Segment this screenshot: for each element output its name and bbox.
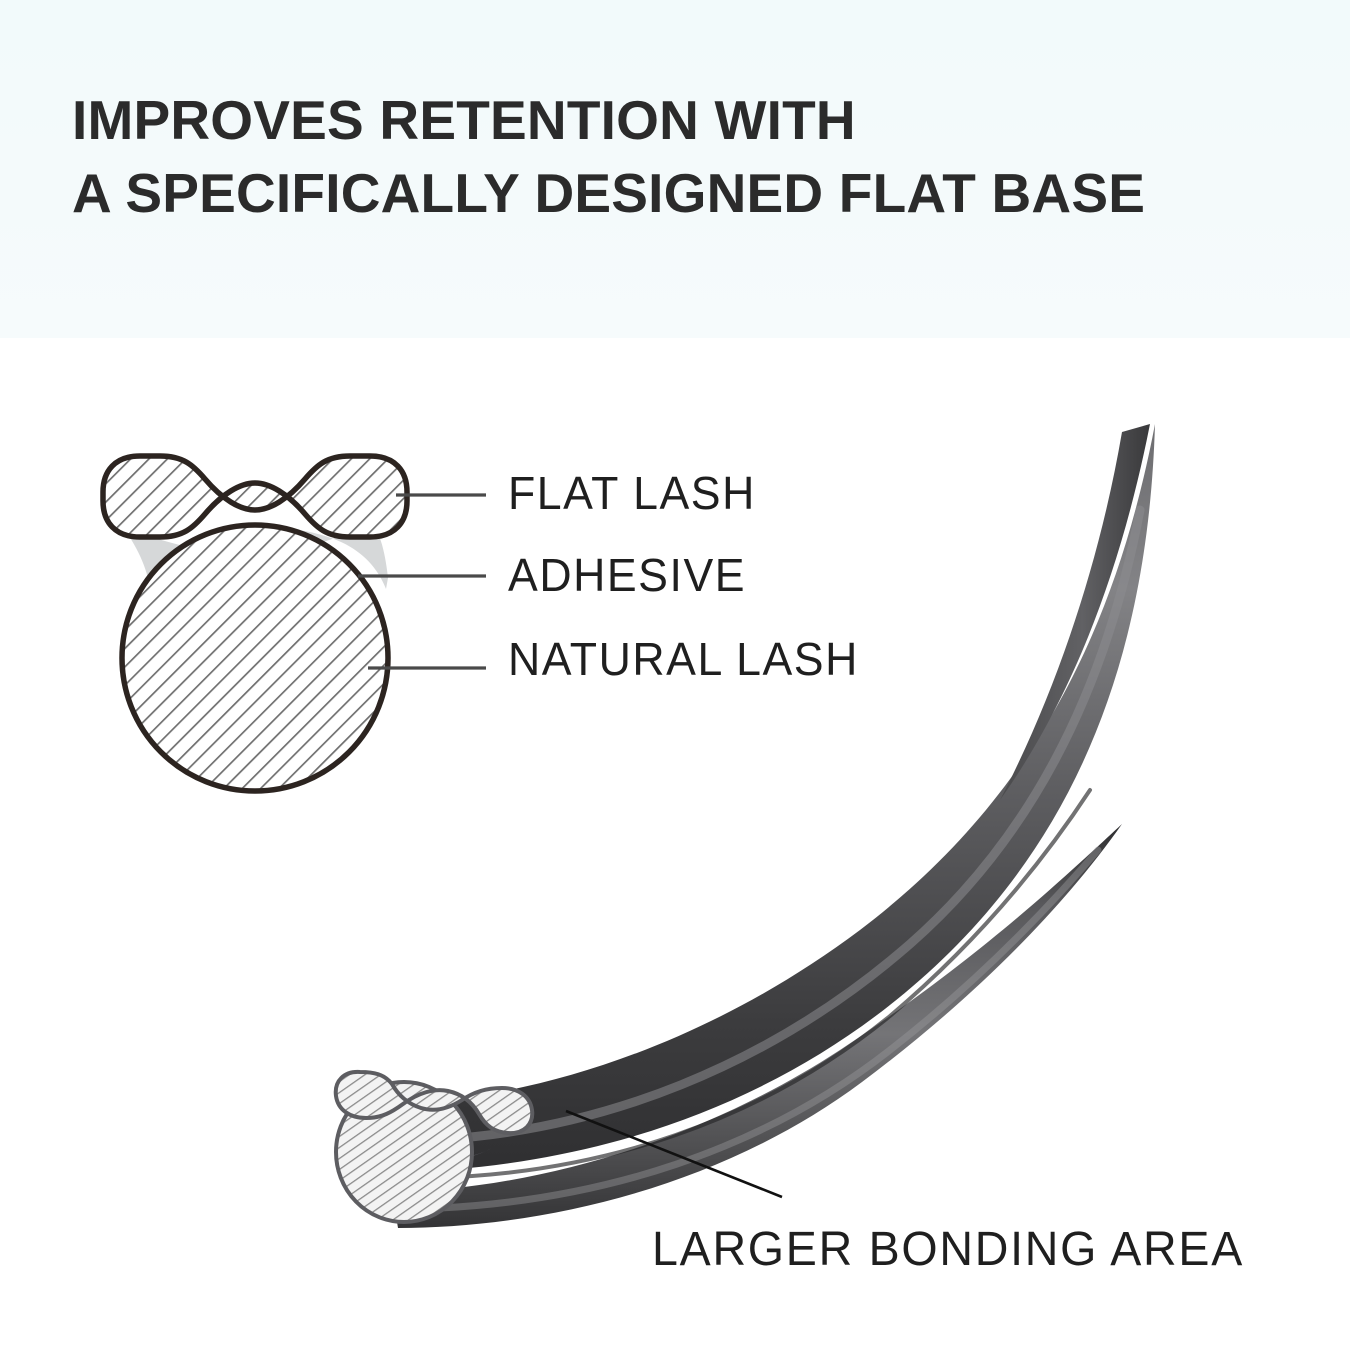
natural-lash-circle	[122, 525, 388, 791]
label-flat-lash: FLAT LASH	[508, 466, 756, 520]
label-adhesive: ADHESIVE	[508, 548, 746, 602]
label-larger-bonding-area: LARGER BONDING AREA	[652, 1222, 1244, 1277]
cross-section-diagram	[103, 456, 486, 791]
label-natural-lash: NATURAL LASH	[508, 632, 859, 686]
infographic-page: IMPROVES RETENTION WITH A SPECIFICALLY D…	[0, 0, 1350, 1350]
